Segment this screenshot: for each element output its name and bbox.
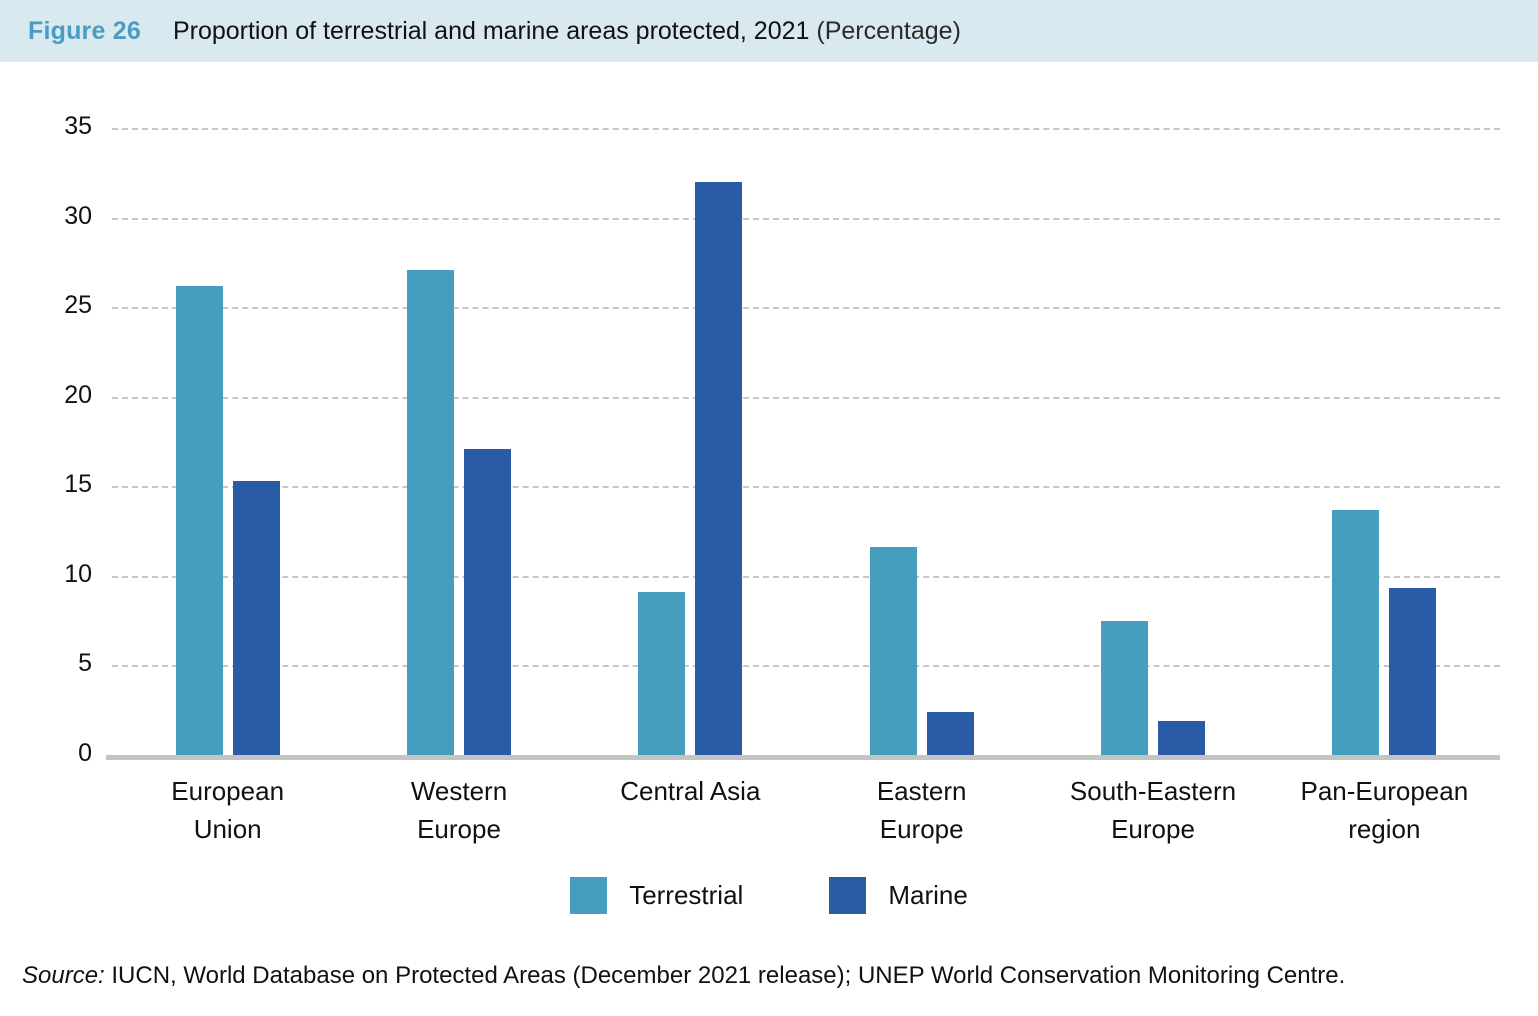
bar-marine[interactable] [1389, 588, 1436, 755]
y-tick-label-15: 15 [22, 470, 92, 499]
category-label-line: Europe [1038, 810, 1268, 848]
bar-marine[interactable] [464, 449, 511, 755]
bar-terrestrial[interactable] [1332, 510, 1379, 755]
y-axis-tick-labels: 35302520151050 [22, 128, 92, 755]
gridline-5 [112, 665, 1500, 667]
legend-swatch-icon [829, 877, 866, 914]
bar-terrestrial[interactable] [1101, 621, 1148, 755]
bar-terrestrial[interactable] [638, 592, 685, 755]
gridline-10 [112, 576, 1500, 578]
bar-group [870, 128, 974, 755]
category-label-line: Central Asia [575, 772, 805, 810]
category-label-line: South-Eastern [1038, 772, 1268, 810]
legend-label: Terrestrial [629, 880, 743, 911]
category-label: Pan-Europeanregion [1269, 772, 1499, 848]
source-prefix: Source: [22, 962, 105, 989]
category-label-line: Western [344, 772, 574, 810]
bar-group [1332, 128, 1436, 755]
bar-group [176, 128, 280, 755]
bar-marine[interactable] [695, 182, 742, 755]
y-tick-label-0: 0 [22, 739, 92, 768]
bar-marine[interactable] [927, 712, 974, 755]
chart-area: 35302520151050 EuropeanUnionWesternEurop… [0, 62, 1538, 862]
legend-swatch-icon [570, 877, 607, 914]
y-tick-label-20: 20 [22, 381, 92, 410]
legend-item[interactable]: Terrestrial [570, 877, 743, 914]
bar-group [1101, 128, 1205, 755]
category-label-line: region [1269, 810, 1499, 848]
x-axis-category-labels: EuropeanUnionWesternEuropeCentral AsiaEa… [112, 772, 1500, 862]
gridline-15 [112, 486, 1500, 488]
plot-area [112, 128, 1500, 755]
figure-title-text: Proportion of terrestrial and marine are… [173, 17, 809, 45]
y-tick-label-25: 25 [22, 291, 92, 320]
category-label-line: Pan-European [1269, 772, 1499, 810]
source-note: Source: IUCN, World Database on Protecte… [22, 962, 1345, 990]
gridline-20 [112, 397, 1500, 399]
category-label: WesternEurope [344, 772, 574, 848]
bar-terrestrial[interactable] [407, 270, 454, 755]
category-label-line: Union [113, 810, 343, 848]
bar-marine[interactable] [1158, 721, 1205, 755]
gridline-35 [112, 128, 1500, 130]
y-tick-label-5: 5 [22, 649, 92, 678]
x-axis-baseline [106, 755, 1500, 760]
figure-title-unit: (Percentage) [816, 17, 961, 45]
y-tick-label-35: 35 [22, 112, 92, 141]
figure-number: Figure 26 [28, 17, 141, 46]
legend-label: Marine [888, 880, 967, 911]
category-label: EasternEurope [807, 772, 1037, 848]
chart-legend: TerrestrialMarine [0, 872, 1538, 918]
y-tick-label-30: 30 [22, 202, 92, 231]
bar-marine[interactable] [233, 481, 280, 755]
category-label-line: Eastern [807, 772, 1037, 810]
bar-group [638, 128, 742, 755]
gridline-25 [112, 307, 1500, 309]
category-label-line: European [113, 772, 343, 810]
category-label-line: Europe [344, 810, 574, 848]
category-label: EuropeanUnion [113, 772, 343, 848]
legend-item[interactable]: Marine [829, 877, 967, 914]
bar-terrestrial[interactable] [176, 286, 223, 755]
category-label: South-EasternEurope [1038, 772, 1268, 848]
category-label: Central Asia [575, 772, 805, 810]
figure-title: Proportion of terrestrial and marine are… [173, 17, 961, 46]
y-tick-label-10: 10 [22, 560, 92, 589]
source-text: IUCN, World Database on Protected Areas … [111, 962, 1345, 989]
bar-terrestrial[interactable] [870, 547, 917, 755]
gridline-30 [112, 218, 1500, 220]
bar-group [407, 128, 511, 755]
category-label-line: Europe [807, 810, 1037, 848]
figure-header-band: Figure 26 Proportion of terrestrial and … [0, 0, 1538, 62]
